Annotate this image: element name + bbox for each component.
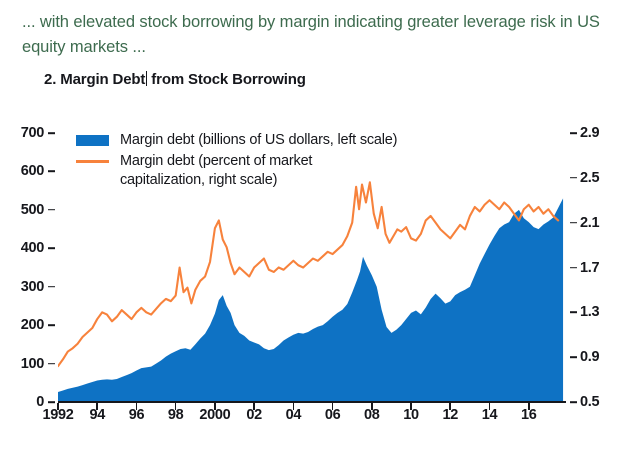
x-axis-label: 04 bbox=[286, 407, 302, 423]
y-axis-tick-left bbox=[48, 286, 55, 288]
y-axis-label-right: 0.9 bbox=[580, 349, 599, 365]
y-axis-label-left: 700 bbox=[0, 125, 44, 141]
y-axis-tick-left bbox=[48, 209, 55, 211]
legend-item-margin-debt-percent: Margin debt (percent of market capitaliz… bbox=[76, 152, 397, 190]
y-axis-label-left: 100 bbox=[0, 356, 44, 372]
y-axis-label-left: 300 bbox=[0, 279, 44, 295]
y-axis-tick-right bbox=[570, 222, 577, 224]
x-axis-label: 2000 bbox=[199, 407, 230, 423]
y-axis-label-right: 2.9 bbox=[580, 125, 599, 141]
y-axis-tick-left bbox=[48, 401, 55, 403]
section-lede-text: ... with elevated stock borrowing by mar… bbox=[22, 10, 622, 60]
y-axis-tick-left bbox=[48, 171, 55, 173]
chart-legend: Margin debt (billions of US dollars, lef… bbox=[76, 131, 397, 192]
x-axis-label: 10 bbox=[403, 407, 419, 423]
chart-page: ... with elevated stock borrowing by mar… bbox=[0, 0, 640, 449]
y-axis-tick-right bbox=[570, 132, 577, 134]
x-axis-label: 96 bbox=[129, 407, 145, 423]
legend-swatch-wrap bbox=[76, 152, 120, 171]
y-axis-label-right: 2.5 bbox=[580, 170, 599, 186]
y-axis-label-right: 2.1 bbox=[580, 215, 599, 231]
y-axis-tick-right bbox=[570, 177, 577, 179]
y-axis-tick-right bbox=[570, 267, 577, 269]
chart-title-suffix: from Stock Borrowing bbox=[151, 71, 306, 88]
y-axis-label-left: 200 bbox=[0, 317, 44, 333]
y-axis-tick-right bbox=[570, 401, 577, 403]
y-axis-tick-left bbox=[48, 324, 55, 326]
chart-title-prefix: 2. Margin Debt bbox=[44, 71, 145, 88]
x-axis-label: 16 bbox=[521, 407, 537, 423]
x-axis-label: 08 bbox=[364, 407, 380, 423]
x-axis-line bbox=[58, 401, 566, 403]
y-axis-tick-left bbox=[48, 132, 55, 134]
y-axis-tick-right bbox=[570, 312, 577, 314]
x-axis-label: 14 bbox=[482, 407, 498, 423]
x-axis-label: 98 bbox=[168, 407, 184, 423]
x-axis-label: 1992 bbox=[42, 407, 73, 423]
y-axis-tick-right bbox=[570, 356, 577, 358]
legend-item-margin-debt-billions: Margin debt (billions of US dollars, lef… bbox=[76, 131, 397, 150]
x-axis-label: 02 bbox=[246, 407, 262, 423]
legend-label: Margin debt (billions of US dollars, lef… bbox=[120, 131, 397, 150]
x-axis-label: 06 bbox=[325, 407, 341, 423]
legend-label: Margin debt (percent of market capitaliz… bbox=[120, 152, 312, 190]
x-axis-label: 94 bbox=[89, 407, 105, 423]
y-axis-label-left: 600 bbox=[0, 163, 44, 179]
legend-swatch-blue-icon bbox=[76, 135, 109, 146]
x-axis-label: 12 bbox=[443, 407, 459, 423]
y-axis-label-left: 400 bbox=[0, 240, 44, 256]
y-axis-label-left: 0 bbox=[0, 394, 44, 410]
y-axis-label-right: 1.3 bbox=[580, 304, 599, 320]
page-title: 2. Margin Debt from Stock Borrowing bbox=[44, 71, 306, 88]
y-axis-label-right: 0.5 bbox=[580, 394, 599, 410]
y-axis-label-left: 500 bbox=[0, 202, 44, 218]
y-axis-tick-left bbox=[48, 247, 55, 249]
y-axis-tick-left bbox=[48, 363, 55, 365]
series-area-margin-debt-billions bbox=[58, 198, 563, 402]
y-axis-label-right: 1.7 bbox=[580, 260, 599, 276]
text-caret bbox=[146, 71, 147, 86]
legend-swatch-orange-line-icon bbox=[76, 160, 109, 163]
legend-swatch-wrap bbox=[76, 131, 120, 150]
